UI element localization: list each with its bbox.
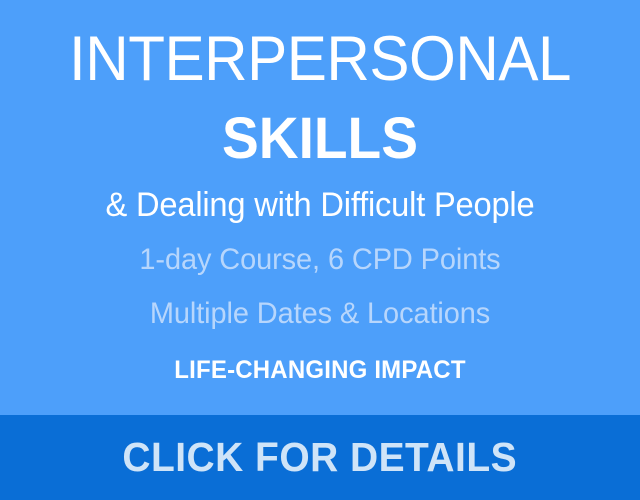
- headline-primary: INTERPERSONAL: [14, 28, 625, 96]
- promo-content-zone: INTERPERSONAL SKILLS & Dealing with Diff…: [0, 0, 640, 415]
- headline-secondary: SKILLS: [16, 110, 624, 172]
- impact-tagline: LIFE-CHANGING IMPACT: [13, 358, 627, 387]
- course-advertisement-banner[interactable]: INTERPERSONAL SKILLS & Dealing with Diff…: [0, 0, 640, 500]
- headline-subtitle: & Dealing with Difficult People: [13, 188, 627, 226]
- call-to-action-label: CLICK FOR DETAILS: [123, 437, 518, 478]
- call-to-action-button[interactable]: CLICK FOR DETAILS: [0, 415, 640, 500]
- course-availability-detail: Multiple Dates & Locations: [11, 299, 629, 333]
- course-duration-detail: 1-day Course, 6 CPD Points: [11, 245, 629, 279]
